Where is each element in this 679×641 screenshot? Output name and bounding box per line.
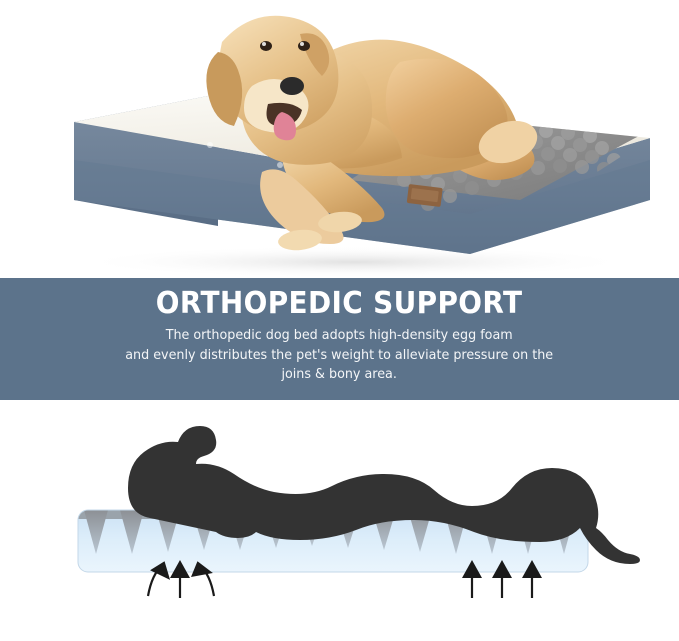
orthopedic-support-banner: ORTHOPEDIC SUPPORT The orthopedic dog be… [0,278,679,400]
banner-subtitle-line-2: and evenly distributes the pet's weight … [126,346,554,366]
product-photo-illustration [0,0,679,278]
pressure-diagram-illustration [0,400,679,600]
banner-subtitle-line-3: joins & bony area. [126,365,554,385]
banner-title: ORTHOPEDIC SUPPORT [156,287,523,321]
banner-subtitle-line-1: The orthopedic dog bed adopts high-densi… [126,326,554,346]
banner-subtitle: The orthopedic dog bed adopts high-densi… [126,326,554,385]
product-photo-panel [0,0,679,278]
floor-shadow [75,246,635,278]
product-feature-page: ORTHOPEDIC SUPPORT The orthopedic dog be… [0,0,679,641]
pressure-diagram-panel: Increased Airflow Relieve Pressure Point… [0,400,679,641]
